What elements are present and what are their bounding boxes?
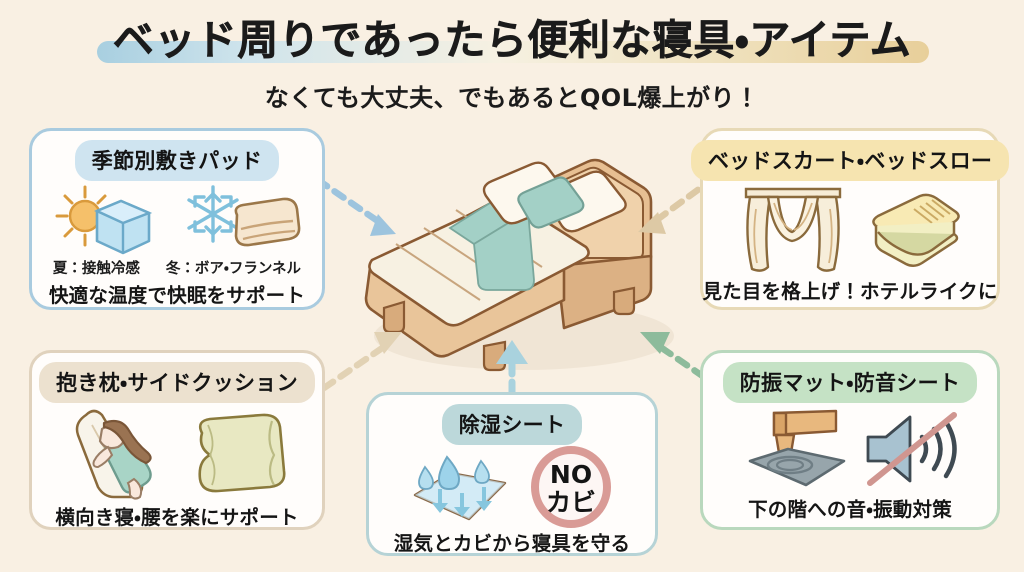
arrow-dehum-to-bed: [492, 338, 532, 396]
svg-text:NO: NO: [550, 460, 592, 489]
card-cushion-caption: 横向き寝・腰を楽にサポート: [55, 501, 298, 530]
card-pad-sublabel-summer: 夏：接触冷感: [53, 257, 140, 278]
sun-ice-cube-icon: [49, 183, 169, 257]
card-dehum-title: 除湿シート: [442, 404, 583, 445]
header: ベッド周りであったら便利な寝具・アイテム なくても大丈夫、でもあるとQOL爆上が…: [0, 0, 1024, 118]
card-vibe-icons: [703, 403, 997, 493]
arrow-cushion-to-bed: [322, 326, 418, 392]
card-pad-title: 季節別敷きパッド: [75, 140, 279, 181]
card-skirt-icons: [703, 181, 997, 275]
arrow-pad-to-bed: [316, 178, 412, 250]
card-vibe-caption: 下の階への音・振動対策: [748, 493, 952, 522]
card-cushion-icons: [32, 403, 322, 501]
page-title-wrap: ベッド周りであったら便利な寝具・アイテム: [0, 14, 1024, 66]
snowflake-blanket-icon: [179, 183, 305, 257]
moisture-absorbing-sheet-icon: [405, 449, 513, 525]
card-pad-icons: [32, 181, 322, 257]
card-seasonal-mattress-pad[interactable]: 季節別敷きパッド: [29, 128, 325, 310]
card-bed-skirt-throw[interactable]: ベッドスカート・ベッドスロー: [700, 128, 1000, 310]
card-pad-caption: 快適な温度で快眠をサポート: [49, 279, 305, 308]
no-mold-sign-icon: NO カビ: [523, 447, 619, 527]
bed-drape-icon: [738, 183, 848, 275]
card-skirt-caption: 見た目を格上げ！ホテルライクに: [702, 275, 997, 304]
side-cushion-icon: [186, 411, 290, 495]
vibration-mat-icon: [740, 405, 850, 493]
card-body-pillow-side-cushion[interactable]: 抱き枕・サイドクッション: [29, 350, 325, 530]
folded-throw-icon: [858, 188, 962, 270]
card-vibe-title: 防振マット・防音シート: [723, 362, 977, 403]
card-dehum-icons: NO カビ: [369, 445, 655, 527]
card-moisture-absorbing-sheet[interactable]: 除湿シート NO: [366, 392, 658, 556]
page-title: ベッド周りであったら便利な寝具・アイテム: [0, 14, 1024, 66]
page-subtitle: なくても大丈夫、でもあるとQOL爆上がり！: [0, 78, 1024, 113]
card-dehum-caption: 湿気とカビから寝具を守る: [394, 527, 630, 556]
muted-speaker-icon: [860, 409, 960, 489]
card-pad-sublabels: 夏：接触冷感 冬：ボア・フランネル: [32, 257, 322, 278]
infographic-canvas: ベッド周りであったら便利な寝具・アイテム なくても大丈夫、でもあるとQOL爆上が…: [0, 0, 1024, 572]
card-cushion-title: 抱き枕・サイドクッション: [39, 362, 315, 403]
svg-text:カビ: カビ: [546, 488, 596, 517]
side-sleeper-body-pillow-icon: [64, 405, 176, 501]
card-pad-sublabel-winter: 冬：ボア・フランネル: [166, 257, 301, 278]
card-skirt-title: ベッドスカート・ベッドスロー: [691, 140, 1009, 181]
card-vibration-soundproof-mat[interactable]: 防振マット・防音シート: [700, 350, 1000, 530]
